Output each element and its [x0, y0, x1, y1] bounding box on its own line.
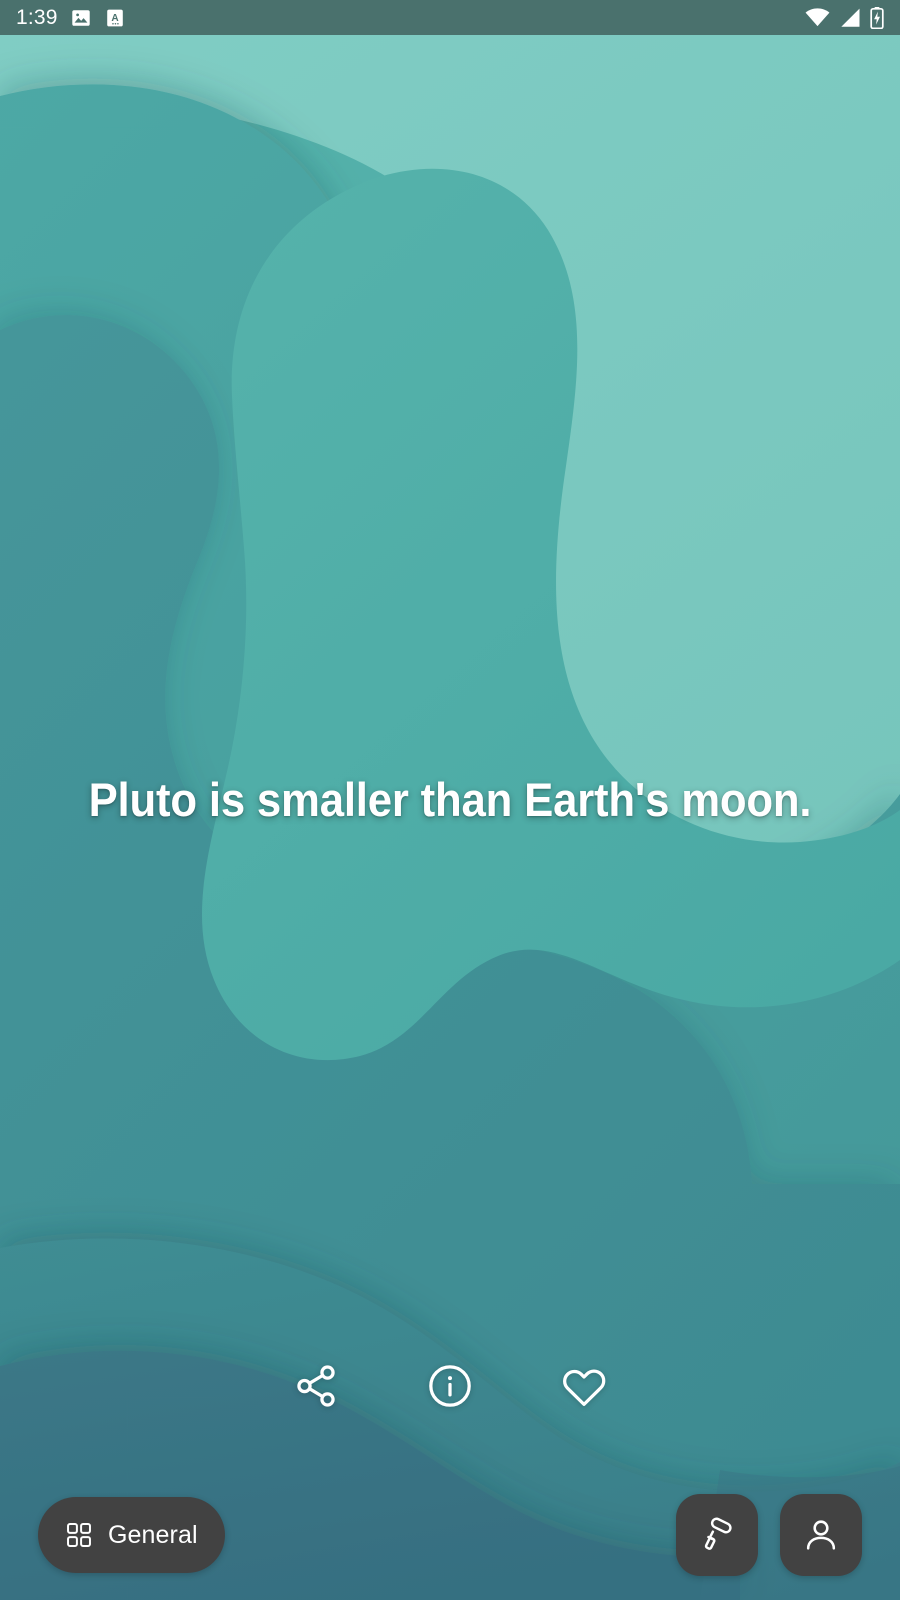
category-chip-general[interactable]: General [38, 1497, 225, 1573]
paint-roller-icon [698, 1516, 736, 1554]
share-icon [293, 1363, 339, 1409]
bottom-bar: General [0, 1470, 900, 1600]
share-button[interactable] [286, 1356, 346, 1416]
profile-button[interactable] [780, 1494, 862, 1576]
status-bar-left: 1:39 A [16, 6, 126, 30]
status-bar-right [805, 7, 884, 29]
wifi-icon [805, 8, 830, 28]
favorite-heart-icon [561, 1363, 607, 1409]
screenshot-text-icon: A [104, 7, 126, 29]
cellular-signal-icon [839, 8, 861, 28]
app-screen: 1:39 A [0, 0, 900, 1600]
battery-charging-icon [870, 7, 884, 29]
quote-text[interactable]: Pluto is smaller than Earth's moon. [69, 771, 832, 828]
svg-text:A: A [111, 13, 119, 24]
action-button-row [0, 1356, 900, 1416]
bottom-bar-right-buttons [676, 1494, 862, 1576]
profile-person-icon [802, 1516, 840, 1554]
category-label: General [108, 1521, 198, 1550]
status-bar: 1:39 A [0, 0, 900, 35]
image-icon [70, 7, 92, 29]
theme-button[interactable] [676, 1494, 758, 1576]
grid-category-icon [65, 1521, 93, 1549]
status-clock: 1:39 [16, 6, 58, 30]
info-icon [427, 1363, 473, 1409]
info-button[interactable] [420, 1356, 480, 1416]
favorite-button[interactable] [554, 1356, 614, 1416]
